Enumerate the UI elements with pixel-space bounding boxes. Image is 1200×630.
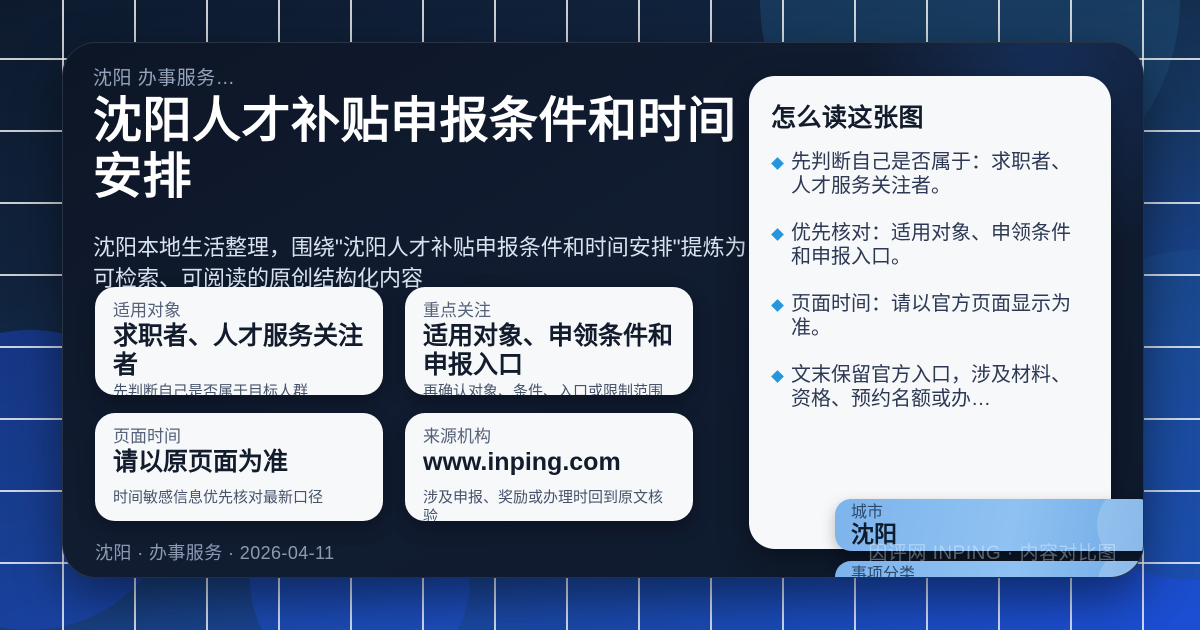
stat-card-key: 页面时间 <box>113 426 365 447</box>
list-item-text: 页面时间：请以官方页面显示为准。 <box>791 292 1089 340</box>
bullet-diamond-icon <box>771 299 784 312</box>
header-block: 沈阳 办事服务… 沈阳人才补贴申报条件和时间安排 沈阳本地生活整理，围绕"沈阳人… <box>93 63 753 294</box>
stat-card-note: 时间敏感信息优先核对最新口径 <box>113 489 365 508</box>
footer-watermark: 因评网 INPING · 内容对比图 <box>868 538 1117 565</box>
stat-card-note: 涉及申报、奖励或办理时回到原文核验 <box>423 489 675 521</box>
stat-card-key: 来源机构 <box>423 426 675 447</box>
main-card: 沈阳 办事服务… 沈阳人才补贴申报条件和时间安排 沈阳本地生活整理，围绕"沈阳人… <box>62 42 1144 578</box>
stat-card-value: 求职者、人才服务关注者 <box>113 322 365 380</box>
stat-card-value: www.inping.com <box>423 448 675 477</box>
stat-card: 页面时间 请以原页面为准 时间敏感信息优先核对最新口径 <box>95 413 383 521</box>
list-item: 优先核对：适用对象、申领条件和申报入口。 <box>771 221 1089 269</box>
page-title: 沈阳人才补贴申报条件和时间安排 <box>93 94 753 206</box>
tag-pill-key: 城市 <box>851 504 1139 522</box>
stat-card: 重点关注 适用对象、申领条件和申报入口 再确认对象、条件、入口或限制范围 <box>405 287 693 395</box>
stat-card-value: 请以原页面为准 <box>113 448 365 477</box>
panel-title: 怎么读这张图 <box>771 98 1089 134</box>
breadcrumb: 沈阳 办事服务… <box>93 63 753 90</box>
stat-card-key: 适用对象 <box>113 300 365 321</box>
list-item: 文末保留官方入口，涉及材料、资格、预约名额或办… <box>771 363 1089 411</box>
page-subtitle: 沈阳本地生活整理，围绕"沈阳人才补贴申报条件和时间安排"提炼为可检索、可阅读的原… <box>93 232 753 294</box>
how-to-read-panel: 怎么读这张图 先判断自己是否属于：求职者、人才服务关注者。 优先核对：适用对象、… <box>749 76 1111 549</box>
panel-bullet-list: 先判断自己是否属于：求职者、人才服务关注者。 优先核对：适用对象、申领条件和申报… <box>771 150 1089 411</box>
stat-card-grid: 适用对象 求职者、人才服务关注者 先判断自己是否属于目标人群 重点关注 适用对象… <box>95 287 711 521</box>
stat-card: 来源机构 www.inping.com 涉及申报、奖励或办理时回到原文核验 <box>405 413 693 521</box>
bullet-diamond-icon <box>771 228 784 241</box>
list-item-text: 文末保留官方入口，涉及材料、资格、预约名额或办… <box>791 363 1089 411</box>
bullet-diamond-icon <box>771 157 784 170</box>
list-item: 页面时间：请以官方页面显示为准。 <box>771 292 1089 340</box>
tag-pill-key: 事项分类 <box>851 566 1139 578</box>
stat-card-key: 重点关注 <box>423 300 675 321</box>
list-item-text: 先判断自己是否属于：求职者、人才服务关注者。 <box>791 150 1089 198</box>
list-item: 先判断自己是否属于：求职者、人才服务关注者。 <box>771 150 1089 198</box>
stat-card: 适用对象 求职者、人才服务关注者 先判断自己是否属于目标人群 <box>95 287 383 395</box>
bullet-diamond-icon <box>771 370 784 383</box>
footer-meta: 沈阳 · 办事服务 · 2026-04-11 <box>95 539 335 565</box>
list-item-text: 优先核对：适用对象、申领条件和申报入口。 <box>791 221 1089 269</box>
stat-card-value: 适用对象、申领条件和申报入口 <box>423 322 675 380</box>
stat-card-note: 再确认对象、条件、入口或限制范围 <box>423 383 675 395</box>
stat-card-note: 先判断自己是否属于目标人群 <box>113 383 365 395</box>
